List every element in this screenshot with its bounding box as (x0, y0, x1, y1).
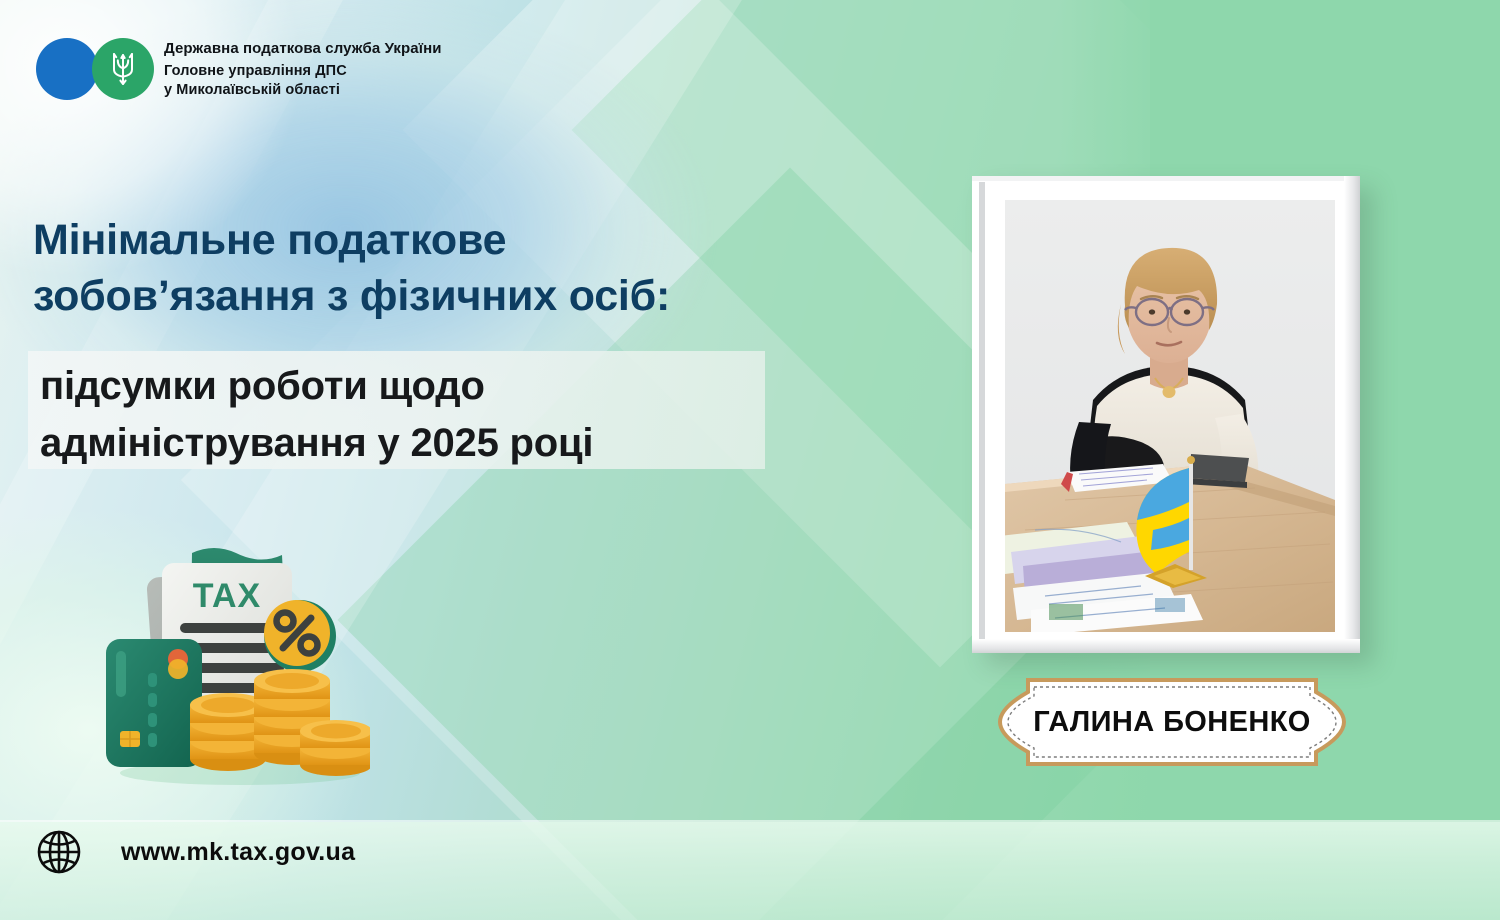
title-subtitle: підсумки роботи щодо адміністрування у 2… (40, 358, 800, 472)
globe-icon (35, 828, 83, 876)
speaker-photo-frame (972, 176, 1360, 653)
title-primary: Мінімальне податкове зобов’язання з фізи… (33, 213, 853, 325)
title-line-2: зобов’язання з фізичних осіб: (33, 269, 853, 325)
org-name-line3: у Миколаївській області (164, 81, 442, 100)
speaker-photo-graphic (1005, 200, 1335, 632)
footer: www.mk.tax.gov.ua (35, 828, 355, 876)
title-line-1: Мінімальне податкове (33, 213, 853, 269)
frame-spine (979, 182, 985, 647)
title-line-4: адміністрування у 2025 році (40, 415, 800, 472)
frame-right-edge (1344, 176, 1360, 653)
title-line-3: підсумки роботи щодо (40, 358, 800, 415)
dps-logo (36, 38, 154, 100)
organization-header: Державна податкова служба України Головн… (36, 38, 442, 100)
org-name-line2: Головне управління ДПС (164, 62, 442, 81)
speaker-name: ГАЛИНА БОНЕНКО (998, 678, 1346, 766)
ukraine-trident-icon (92, 38, 154, 100)
background-floor-line (0, 820, 1500, 822)
speaker-photo (1005, 200, 1335, 632)
tax-document-illustration: TAX (100, 535, 370, 785)
blue-circle-icon (36, 38, 98, 100)
frame-top-edge (972, 176, 1360, 181)
speaker-name-plaque: ГАЛИНА БОНЕНКО (998, 678, 1346, 766)
svg-text:TAX: TAX (193, 577, 261, 615)
website-url: www.mk.tax.gov.ua (121, 838, 355, 867)
frame-bottom-edge (972, 639, 1360, 653)
poster-canvas: Державна податкова служба України Головн… (0, 0, 1500, 920)
org-name-line1: Державна податкова служба України (164, 39, 442, 58)
